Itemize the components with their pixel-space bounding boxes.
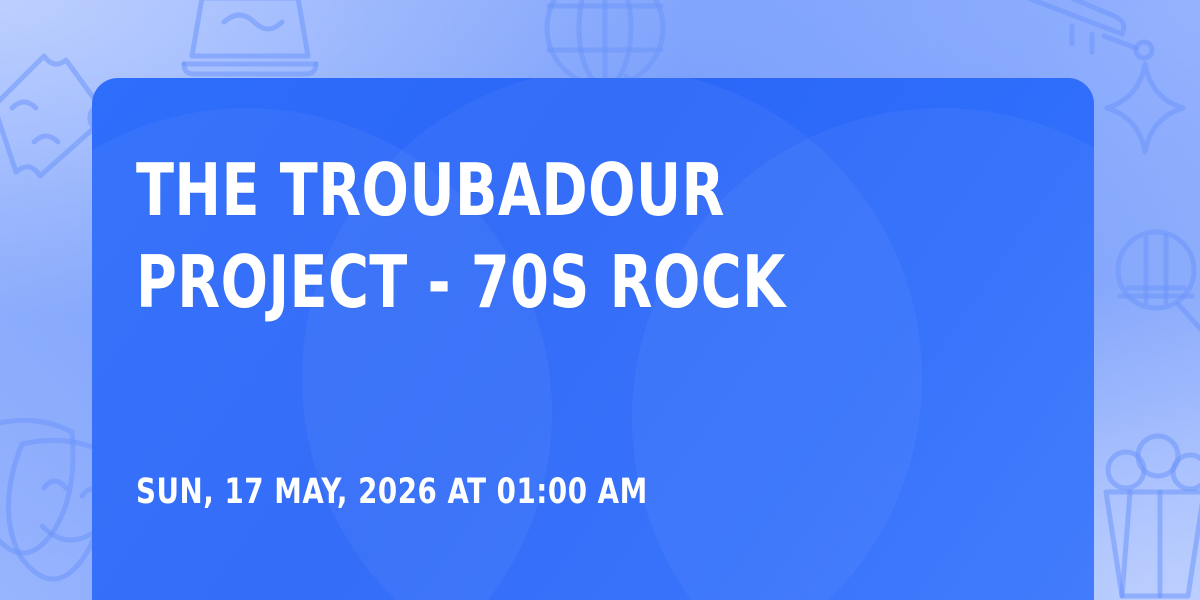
event-card: The Troubadour Project - 70s Rock Sun, 1… bbox=[92, 78, 1094, 600]
event-title: The Troubadour Project - 70s Rock bbox=[136, 144, 910, 328]
event-date: Sun, 17 May, 2026 at 01:00 AM bbox=[136, 470, 648, 514]
event-banner: The Troubadour Project - 70s Rock Sun, 1… bbox=[0, 0, 1200, 600]
card-content: The Troubadour Project - 70s Rock Sun, 1… bbox=[136, 78, 1050, 600]
